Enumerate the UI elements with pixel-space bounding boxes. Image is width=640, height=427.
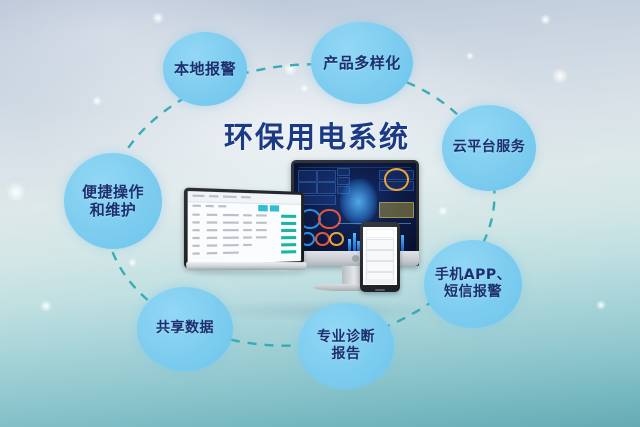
phone-screen bbox=[363, 227, 397, 285]
brand-logo-icon bbox=[352, 255, 359, 262]
bubble-label-line2: 报告 bbox=[332, 346, 361, 362]
table-chip bbox=[258, 205, 267, 211]
laptop-shadow bbox=[192, 270, 308, 275]
phone-home-indicator bbox=[375, 289, 385, 291]
smartphone bbox=[360, 222, 400, 292]
poster-canvas: 环保用电系统 本地报警 产品多样化 云平台服务 手机APP、 短信报警 专业诊断… bbox=[0, 0, 640, 427]
bubble-label: 便捷操作 和维护 bbox=[82, 183, 144, 220]
laptop-lid bbox=[184, 188, 304, 269]
bubble-easy-maintenance[interactable]: 便捷操作 和维护 bbox=[64, 153, 162, 249]
page-title: 环保用电系统 bbox=[224, 114, 444, 156]
bubble-label: 云平台服务 bbox=[453, 139, 526, 156]
bubble-label-line1: 便捷操作 bbox=[82, 183, 144, 201]
bubble-label: 专业诊断 报告 bbox=[317, 329, 375, 363]
bubble-local-alarm[interactable]: 本地报警 bbox=[163, 32, 247, 106]
bubble-mobile-sms-alarm[interactable]: 手机APP、 短信报警 bbox=[424, 240, 522, 328]
bubble-label-line2: 和维护 bbox=[90, 201, 137, 219]
bubble-shared-data[interactable]: 共享数据 bbox=[137, 287, 233, 371]
laptop-base bbox=[186, 262, 306, 270]
phone-nav-bar bbox=[365, 279, 395, 284]
bubble-label: 手机APP、 短信报警 bbox=[435, 267, 511, 301]
bubble-label: 共享数据 bbox=[156, 320, 214, 337]
bubble-product-diversity[interactable]: 产品多样化 bbox=[311, 22, 413, 104]
bubble-label-line1: 专业诊断 bbox=[317, 329, 375, 345]
table-chip bbox=[270, 205, 279, 211]
bubble-label-line2: 短信报警 bbox=[444, 284, 502, 300]
device-cluster bbox=[188, 160, 448, 310]
bubble-diagnostic-report[interactable]: 专业诊断 报告 bbox=[298, 303, 394, 389]
laptop-screen bbox=[188, 191, 301, 265]
bubble-label-line1: 手机APP、 bbox=[435, 267, 511, 283]
bubble-label: 产品多样化 bbox=[323, 54, 401, 72]
bubble-cloud-service[interactable]: 云平台服务 bbox=[442, 105, 536, 191]
bubble-label: 本地报警 bbox=[174, 60, 236, 78]
laptop bbox=[188, 192, 310, 280]
